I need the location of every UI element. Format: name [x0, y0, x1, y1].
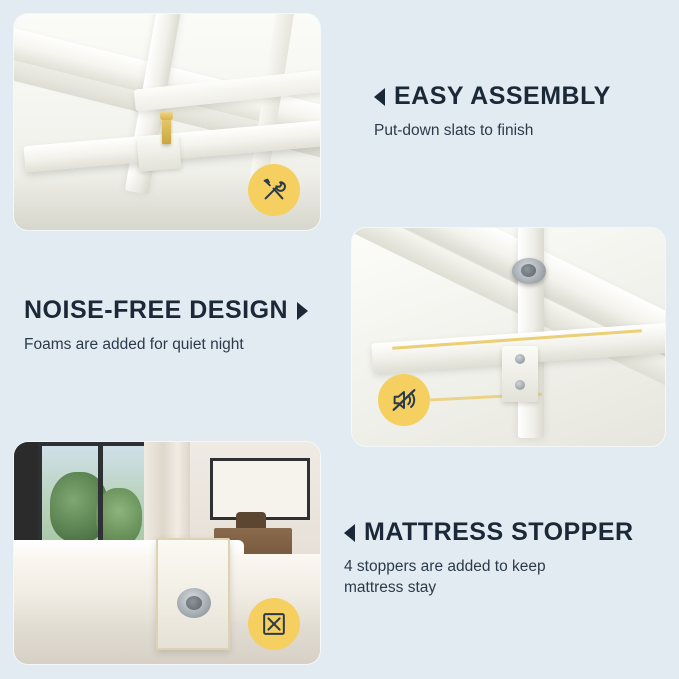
window: [38, 442, 156, 554]
headline-text: NOISE-FREE DESIGN: [24, 296, 288, 325]
arrow-left-icon: [374, 88, 385, 106]
arrow-left-icon: [344, 524, 355, 542]
bolt-head: [512, 258, 546, 284]
marketing-infographic: EASY ASSEMBLY Put-down slats to finish N…: [0, 0, 679, 679]
photo-mattress-stopper: [14, 442, 320, 664]
joint-plate: [502, 346, 538, 402]
mattress-stopper-closeup: [156, 538, 230, 650]
text-block-easy-assembly: EASY ASSEMBLY Put-down slats to finish: [374, 82, 611, 141]
headline-easy-assembly: EASY ASSEMBLY: [374, 82, 611, 111]
headline-mattress-stopper: MATTRESS STOPPER: [344, 518, 634, 547]
subtext-noise-free: Foams are added for quiet night: [24, 334, 308, 355]
arrow-right-icon: [297, 302, 308, 320]
headline-noise-free: NOISE-FREE DESIGN: [24, 296, 308, 325]
subtext-easy-assembly: Put-down slats to finish: [374, 120, 611, 141]
stopper-knob: [177, 588, 211, 618]
text-block-mattress-stopper: MATTRESS STOPPER 4 stoppers are added to…: [344, 518, 634, 599]
screw: [162, 118, 171, 144]
wall-picture-frame: [210, 458, 310, 520]
mute-speaker-icon: [378, 374, 430, 426]
subtext-mattress-stopper: 4 stoppers are added to keep mattress st…: [344, 556, 594, 599]
headline-text: MATTRESS STOPPER: [364, 518, 634, 547]
text-block-noise-free: NOISE-FREE DESIGN Foams are added for qu…: [24, 296, 308, 355]
photo-easy-assembly: [14, 14, 320, 230]
stopper-expand-icon: [248, 598, 300, 650]
tools-icon: [248, 164, 300, 216]
window-mullion: [98, 446, 103, 550]
headline-text: EASY ASSEMBLY: [394, 82, 611, 111]
photo-noise-free-design: [352, 228, 665, 446]
slat-bracket: [137, 134, 182, 172]
